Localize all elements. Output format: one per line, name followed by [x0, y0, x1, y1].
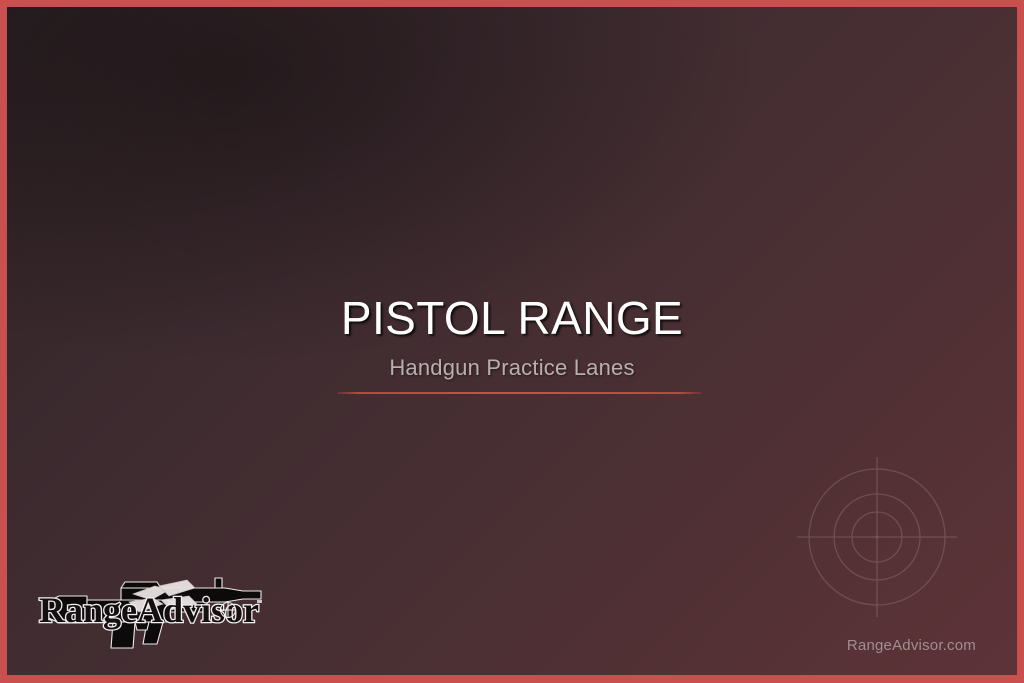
scope-reticle-icon: [221, 603, 236, 618]
footer-url: RangeAdvisor.com: [847, 637, 976, 654]
page-title: PISTOL RANGE: [7, 293, 1017, 343]
brand-logo: RangeAdvisor: [29, 556, 274, 651]
page-subtitle: Handgun Practice Lanes: [7, 355, 1017, 381]
title-block: PISTOL RANGE Handgun Practice Lanes: [7, 293, 1017, 381]
logo-tick: [257, 600, 262, 603]
presentation-slide: PISTOL RANGE Handgun Practice Lanes Rang…: [0, 0, 1024, 683]
target-reticle-watermark: [793, 453, 961, 621]
title-divider: [337, 392, 702, 394]
